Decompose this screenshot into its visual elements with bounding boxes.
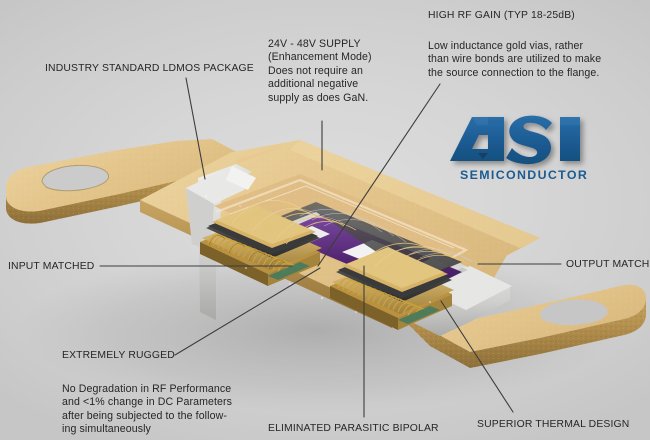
callout-industry-standard-ldmos-package: INDUSTRY STANDARD LDMOS PACKAGE (45, 62, 254, 75)
asi-semiconductor-logo: SEMICONDUCTOR (448, 113, 600, 185)
callout-output-matched: OUTPUT MATCHED (566, 258, 650, 271)
leader-gold-vias (318, 84, 440, 266)
leader-extremely-rugged (175, 268, 320, 355)
callout-extremely-rugged: EXTREMELY RUGGED (62, 349, 175, 362)
leader-thermal-design (441, 301, 513, 412)
callout-superior-thermal-design: SUPERIOR THERMAL DESIGN (477, 418, 629, 431)
logo-tagline: SEMICONDUCTOR (460, 168, 588, 182)
callout-eliminated-parasitic-bipolar: ELIMINATED PARASITIC BIPOLAR (268, 422, 439, 435)
callout-high-rf-gain: HIGH RF GAIN (TYP 18-25dB) (428, 9, 575, 22)
asi-wordmark (450, 116, 580, 164)
callout-no-degradation: No Degradation in RF Performance and <1%… (62, 383, 232, 437)
diagram-canvas: SEMICONDUCTOR INDUSTRY STANDARD LDMOS PA… (0, 0, 650, 440)
callout-supply-voltage: 24V - 48V SUPPLY (Enhancement Mode) Does… (268, 38, 372, 105)
callout-input-matched: INPUT MATCHED (8, 260, 94, 273)
callout-low-inductance-gold-vias: Low inductance gold vias, rather than wi… (428, 40, 601, 80)
leader-ldmos-package (186, 78, 205, 179)
